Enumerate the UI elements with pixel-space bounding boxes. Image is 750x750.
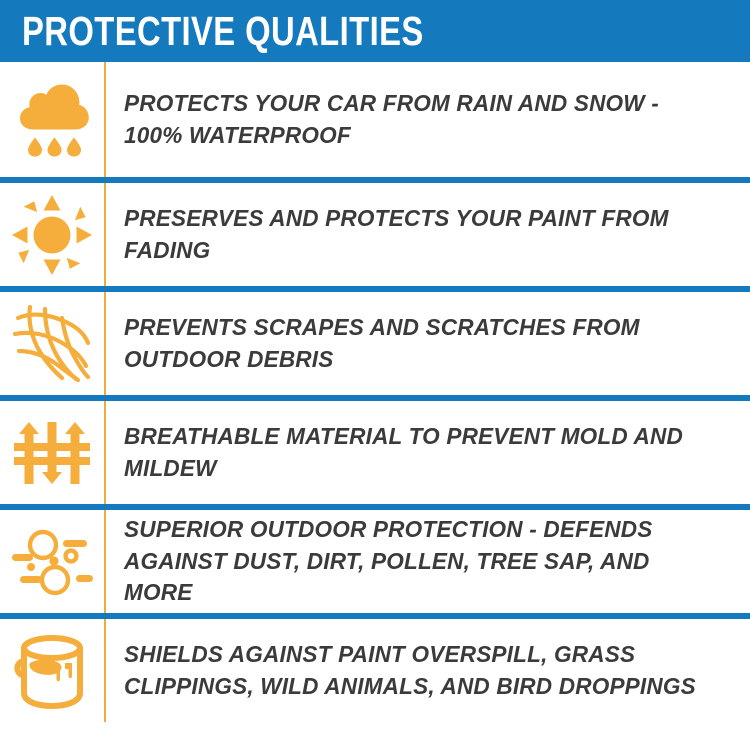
net-debris-icon [12, 304, 92, 384]
feature-text: PRESERVES AND PROTECTS YOUR PAINT FROM F… [124, 203, 712, 266]
text-cell: BREATHABLE MATERIAL TO PREVENT MOLD AND … [104, 421, 750, 484]
icon-cell [0, 292, 104, 395]
feature-row-paint-overspill: SHIELDS AGAINST PAINT OVERSPILL, GRASS C… [0, 613, 750, 722]
header-bar: PROTECTIVE QUALITIES [0, 0, 750, 62]
feature-row-breathable: BREATHABLE MATERIAL TO PREVENT MOLD AND … [0, 395, 750, 504]
feature-text: PREVENTS SCRAPES AND SCRATCHES FROM OUTD… [124, 312, 712, 375]
feature-text: PROTECTS YOUR CAR FROM RAIN AND SNOW - 1… [124, 88, 712, 151]
feature-row-outdoor-protection: SUPERIOR OUTDOOR PROTECTION - DEFENDS AG… [0, 504, 750, 613]
breathable-airflow-icon [12, 414, 92, 492]
text-cell: SUPERIOR OUTDOOR PROTECTION - DEFENDS AG… [104, 514, 750, 608]
feature-text: SUPERIOR OUTDOOR PROTECTION - DEFENDS AG… [124, 514, 712, 608]
feature-rows: PROTECTS YOUR CAR FROM RAIN AND SNOW - 1… [0, 62, 750, 722]
column-divider [104, 401, 106, 504]
icon-cell [0, 183, 104, 286]
sun-icon [12, 195, 92, 275]
text-cell: SHIELDS AGAINST PAINT OVERSPILL, GRASS C… [104, 639, 750, 702]
column-divider [104, 292, 106, 395]
feature-row-scratch-protection: PREVENTS SCRAPES AND SCRATCHES FROM OUTD… [0, 286, 750, 395]
text-cell: PROTECTS YOUR CAR FROM RAIN AND SNOW - 1… [104, 88, 750, 151]
protective-qualities-infographic: PROTECTIVE QUALITIES PROTECTS YOUR CAR F… [0, 0, 750, 750]
feature-text: SHIELDS AGAINST PAINT OVERSPILL, GRASS C… [124, 639, 712, 702]
feature-row-uv-fading: PRESERVES AND PROTECTS YOUR PAINT FROM F… [0, 177, 750, 286]
icon-cell [0, 619, 104, 722]
feature-text: BREATHABLE MATERIAL TO PREVENT MOLD AND … [124, 421, 712, 484]
page-title: PROTECTIVE QUALITIES [22, 11, 424, 52]
text-cell: PRESERVES AND PROTECTS YOUR PAINT FROM F… [104, 203, 750, 266]
column-divider [104, 510, 106, 613]
paint-can-icon [13, 631, 91, 711]
column-divider [104, 183, 106, 286]
rain-cloud-icon [13, 82, 91, 158]
feature-row-waterproof: PROTECTS YOUR CAR FROM RAIN AND SNOW - 1… [0, 62, 750, 177]
text-cell: PREVENTS SCRAPES AND SCRATCHES FROM OUTD… [104, 312, 750, 375]
icon-cell [0, 401, 104, 504]
column-divider [104, 619, 106, 722]
icon-cell [0, 510, 104, 613]
icon-cell [0, 62, 104, 177]
dust-particles-icon [10, 525, 94, 599]
column-divider [104, 62, 106, 177]
